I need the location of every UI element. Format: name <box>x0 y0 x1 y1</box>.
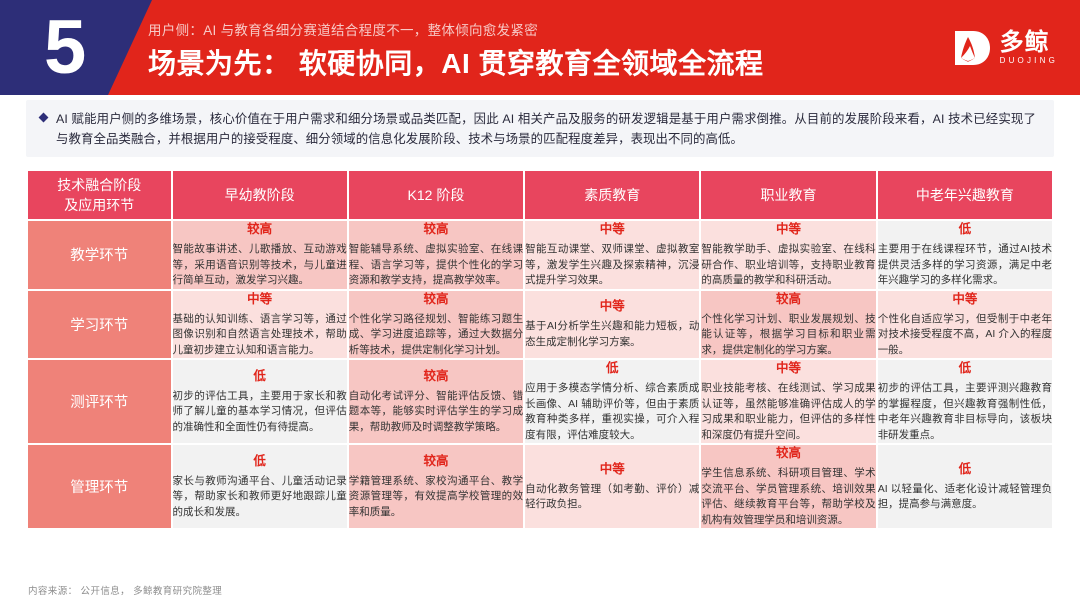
cell-level-badge: 中等 <box>525 221 699 237</box>
table-row: 管理环节 低 家长与教师沟通平台、儿童活动记录等，帮助家长和教师更好地跟踪儿童的… <box>28 445 1052 528</box>
cell-description: 智能故事讲述、儿歌播放、互动游戏等，采用语音识别等技术，与儿童进行简单互动，激发… <box>173 242 347 289</box>
cell-r1-c3: 较高 个性化学习计划、职业发展规划、技能认证等，根据学习目标和职业需求，提供定制… <box>701 291 875 359</box>
cell-description: 个性化学习计划、职业发展规划、技能认证等，根据学习目标和职业需求，提供定制化的学… <box>701 312 875 359</box>
cell-level-badge: 低 <box>878 360 1052 376</box>
cell-description: 学生信息系统、科研项目管理、学术交流平台、学员管理系统、培训效果评估、继续教育平… <box>701 466 875 528</box>
cell-description: 初步的评估工具，主要评测兴趣教育的掌握程度，但兴趣教育强制性低，中老年兴趣教育非… <box>878 381 1052 443</box>
cell-r2-c4: 低 初步的评估工具，主要评测兴趣教育的掌握程度，但兴趣教育强制性低，中老年兴趣教… <box>878 360 1052 443</box>
cell-level-badge: 中等 <box>525 461 699 477</box>
corner-header-line-1: 技术融合阶段 <box>28 175 171 195</box>
cell-level-badge: 中等 <box>878 291 1052 307</box>
row-header-2: 测评环节 <box>28 360 171 443</box>
duojing-whale-logo-icon <box>951 27 993 69</box>
column-header-2: 素质教育 <box>525 171 699 219</box>
cell-level-badge: 较高 <box>349 221 523 237</box>
cell-r1-c4: 中等 个性化自适应学习，但受制于中老年对技术接受程度不高，AI 介入的程度一般。 <box>878 291 1052 359</box>
cell-r0-c3: 中等 智能教学助手、虚拟实验室、在线科研合作、职业培训等，支持职业教育的高质量的… <box>701 221 875 289</box>
cell-r2-c2: 低 应用于多模态学情分析、综合素质成长画像、AI 辅助评价等，但由于素质教育种类… <box>525 360 699 443</box>
cell-level-badge: 较高 <box>701 291 875 307</box>
cell-r0-c1: 较高 智能辅导系统、虚拟实验室、在线课程、语言学习等，提供个性化的学习资源和教学… <box>349 221 523 289</box>
row-header-0: 教学环节 <box>28 221 171 289</box>
cell-description: 自动化考试评分、智能评估反馈、错题本等，能够实时评估学生的学习成果，帮助教师及时… <box>349 389 523 436</box>
section-number-badge: 5 <box>44 5 85 91</box>
column-header-4: 中老年兴趣教育 <box>878 171 1052 219</box>
table-head: 技术融合阶段 及应用环节 早幼教阶段 K12 阶段 素质教育 职业教育 中老年兴… <box>28 171 1052 219</box>
cell-level-badge: 较高 <box>349 291 523 307</box>
cell-level-badge: 中等 <box>173 291 347 307</box>
cell-description: 智能辅导系统、虚拟实验室、在线课程、语言学习等，提供个性化的学习资源和教学支持，… <box>349 242 523 289</box>
cell-r2-c3: 中等 职业技能考核、在线测试、学习成果认证等，虽然能够准确评估成人的学习成果和职… <box>701 360 875 443</box>
row-header-3: 管理环节 <box>28 445 171 528</box>
cell-description: 个性化学习路径规划、智能练习题生成、学习进度追踪等，通过大数据分析等技术，提供定… <box>349 312 523 359</box>
cell-r3-c0: 低 家长与教师沟通平台、儿童活动记录等，帮助家长和教师更好地跟踪儿童的成长和发展… <box>173 445 347 528</box>
logo-wordmark: 多鲸 DUOJING <box>1000 30 1058 66</box>
header-subtitle: 用户侧：AI 与教育各细分赛道结合程度不一，整体倾向愈发紧密 <box>148 19 538 39</box>
cell-level-badge: 中等 <box>525 298 699 314</box>
column-header-1: K12 阶段 <box>349 171 523 219</box>
cell-level-badge: 低 <box>878 461 1052 477</box>
cell-r0-c2: 中等 智能互动课堂、双师课堂、虚拟教室等，激发学生兴趣及探索精神，沉浸式提升学习… <box>525 221 699 289</box>
cell-description: 应用于多模态学情分析、综合素质成长画像、AI 辅助评价等，但由于素质教育种类多样… <box>525 381 699 443</box>
column-header-3: 职业教育 <box>701 171 875 219</box>
cell-description: 智能互动课堂、双师课堂、虚拟教室等，激发学生兴趣及探索精神，沉浸式提升学习效果。 <box>525 242 699 289</box>
row-header-1: 学习环节 <box>28 291 171 359</box>
cell-level-badge: 较高 <box>701 445 875 461</box>
cell-r3-c4: 低 AI 以轻量化、适老化设计减轻管理负担，提高参与满意度。 <box>878 445 1052 528</box>
diamond-bullet-icon <box>39 113 49 123</box>
page-header: 5 用户侧：AI 与教育各细分赛道结合程度不一，整体倾向愈发紧密 场景为先： 软… <box>0 0 1080 95</box>
logo-english-name: DUOJING <box>1000 55 1058 66</box>
cell-description: 个性化自适应学习，但受制于中老年对技术接受程度不高，AI 介入的程度一般。 <box>878 312 1052 359</box>
cell-r3-c3: 较高 学生信息系统、科研项目管理、学术交流平台、学员管理系统、培训效果评估、继续… <box>701 445 875 528</box>
table-header-row: 技术融合阶段 及应用环节 早幼教阶段 K12 阶段 素质教育 职业教育 中老年兴… <box>28 171 1052 219</box>
cell-level-badge: 低 <box>878 221 1052 237</box>
table-row: 学习环节 中等 基础的认知训练、语言学习等，通过图像识别和自然语言处理技术，帮助… <box>28 291 1052 359</box>
cell-r0-c4: 低 主要用于在线课程环节，通过AI技术提供灵活多样的学习资源，满足中老年兴趣学习… <box>878 221 1052 289</box>
cell-r3-c2: 中等 自动化教务管理（如考勤、评价）减轻行政负担。 <box>525 445 699 528</box>
ai-education-matrix-table: 技术融合阶段 及应用环节 早幼教阶段 K12 阶段 素质教育 职业教育 中老年兴… <box>26 169 1054 530</box>
cell-description: 基于AI分析学生兴趣和能力短板，动态生成定制化学习方案。 <box>525 319 699 350</box>
cell-description: 基础的认知训练、语言学习等，通过图像识别和自然语言处理技术，帮助儿童初步建立认知… <box>173 312 347 359</box>
cell-r1-c0: 中等 基础的认知训练、语言学习等，通过图像识别和自然语言处理技术，帮助儿童初步建… <box>173 291 347 359</box>
page-title: 场景为先： 软硬协同，AI 贯穿教育全领域全流程 <box>148 42 764 82</box>
intro-callout-box: AI 赋能用户侧的多维场景，核心价值在于用户需求和细分场景或品类匹配，因此 AI… <box>26 100 1054 157</box>
cell-description: 学籍管理系统、家校沟通平台、教学资源管理等，有效提高学校管理的效率和质量。 <box>349 474 523 521</box>
table-row: 测评环节 低 初步的评估工具，主要用于家长和教师了解儿童的基本学习情况，但评估的… <box>28 360 1052 443</box>
cell-description: 自动化教务管理（如考勤、评价）减轻行政负担。 <box>525 482 699 513</box>
cell-description: 家长与教师沟通平台、儿童活动记录等，帮助家长和教师更好地跟踪儿童的成长和发展。 <box>173 474 347 521</box>
cell-r2-c1: 较高 自动化考试评分、智能评估反馈、错题本等，能够实时评估学生的学习成果，帮助教… <box>349 360 523 443</box>
cell-description: 主要用于在线课程环节，通过AI技术提供灵活多样的学习资源，满足中老年兴趣学习的多… <box>878 242 1052 289</box>
corner-header-line-2: 及应用环节 <box>28 195 171 215</box>
cell-level-badge: 低 <box>173 453 347 469</box>
cell-level-badge: 较高 <box>349 368 523 384</box>
table-body: 教学环节 较高 智能故事讲述、儿歌播放、互动游戏等，采用语音识别等技术，与儿童进… <box>28 221 1052 528</box>
cell-r0-c0: 较高 智能故事讲述、儿歌播放、互动游戏等，采用语音识别等技术，与儿童进行简单互动… <box>173 221 347 289</box>
cell-r2-c0: 低 初步的评估工具，主要用于家长和教师了解儿童的基本学习情况，但评估的准确性和全… <box>173 360 347 443</box>
table-corner-header: 技术融合阶段 及应用环节 <box>28 171 171 219</box>
source-note: 内容来源： 公开信息， 多鲸教育研究院整理 <box>28 583 222 597</box>
cell-level-badge: 中等 <box>701 221 875 237</box>
cell-level-badge: 低 <box>525 360 699 376</box>
cell-description: 职业技能考核、在线测试、学习成果认证等，虽然能够准确评估成人的学习成果和职业能力… <box>701 381 875 443</box>
brand-logo: 多鲸 DUOJING <box>951 26 1058 70</box>
cell-description: AI 以轻量化、适老化设计减轻管理负担，提高参与满意度。 <box>878 482 1052 513</box>
cell-r3-c1: 较高 学籍管理系统、家校沟通平台、教学资源管理等，有效提高学校管理的效率和质量。 <box>349 445 523 528</box>
column-header-0: 早幼教阶段 <box>173 171 347 219</box>
cell-r1-c2: 中等 基于AI分析学生兴趣和能力短板，动态生成定制化学习方案。 <box>525 291 699 359</box>
logo-chinese-name: 多鲸 <box>1000 30 1058 55</box>
cell-level-badge: 中等 <box>701 360 875 376</box>
table-row: 教学环节 较高 智能故事讲述、儿歌播放、互动游戏等，采用语音识别等技术，与儿童进… <box>28 221 1052 289</box>
cell-level-badge: 低 <box>173 368 347 384</box>
cell-level-badge: 较高 <box>173 221 347 237</box>
cell-description: 初步的评估工具，主要用于家长和教师了解儿童的基本学习情况，但评估的准确性和全面性… <box>173 389 347 436</box>
cell-description: 智能教学助手、虚拟实验室、在线科研合作、职业培训等，支持职业教育的高质量的教学和… <box>701 242 875 289</box>
intro-paragraph: AI 赋能用户侧的多维场景，核心价值在于用户需求和细分场景或品类匹配，因此 AI… <box>56 109 1036 149</box>
cell-r1-c1: 较高 个性化学习路径规划、智能练习题生成、学习进度追踪等，通过大数据分析等技术，… <box>349 291 523 359</box>
cell-level-badge: 较高 <box>349 453 523 469</box>
